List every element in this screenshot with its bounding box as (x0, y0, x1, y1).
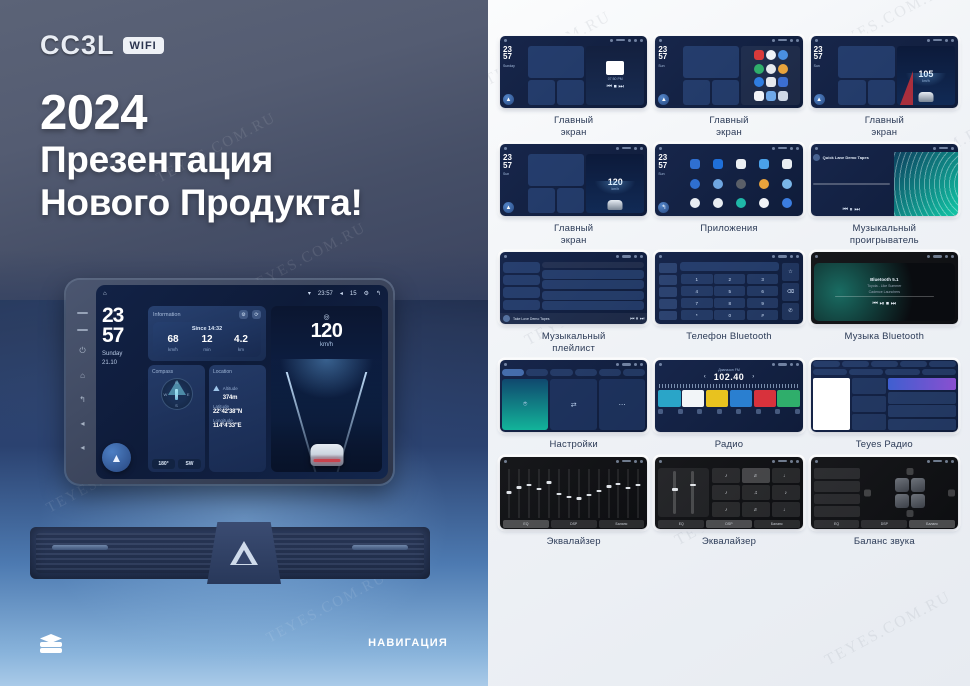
dialer-sidebar[interactable] (658, 262, 678, 321)
dial-key[interactable]: 2 (714, 274, 745, 285)
eq-tab[interactable]: Баланс (599, 520, 645, 528)
grid-cell[interactable]: EQ DSP Баланс Эквалайзер (500, 457, 647, 548)
thumb-status-bar (811, 252, 958, 260)
track-title: Take Love Demo Tapes (513, 317, 550, 321)
head-unit-screen[interactable]: ⌂ ▾ 23:57 ◂ 15 ⚙ ↰ 23 57 Sunday (96, 285, 388, 479)
screenshot-sound-balance[interactable]: EQ DSP Баланс (811, 457, 958, 529)
preset-button[interactable]: ♬ (742, 502, 770, 517)
eq-tab[interactable]: DSP (861, 520, 907, 528)
compass-readout: 180° SW (152, 459, 201, 469)
grid-cell[interactable]: 1 2 3 4 5 6 7 8 9 * 0 # (655, 252, 802, 354)
preset-button[interactable]: ♩ (772, 502, 800, 517)
arrow-left-icon[interactable] (864, 489, 871, 496)
gear-icon[interactable]: ⚙ (364, 290, 369, 297)
caption-line2: экран (865, 127, 904, 139)
caption-line1: Главный (554, 115, 593, 127)
eq-tab[interactable]: Баланс (909, 520, 955, 528)
thumbnail-caption: Главный экран (554, 115, 593, 138)
screenshot-apps[interactable]: 23 57 Sun ↰ (655, 144, 802, 216)
preset-button[interactable]: ♪ (712, 468, 740, 483)
navigation-orb-button[interactable]: ▲ (102, 443, 131, 472)
thumb-widgets (528, 154, 585, 213)
caption-line1: Настройки (549, 439, 597, 451)
screenshot-radio[interactable]: Диапазон FM ‹ 102.40 › (655, 360, 802, 432)
eq-tab[interactable]: DSP (551, 520, 597, 528)
headline-year: 2024 (40, 88, 363, 139)
compass-widget[interactable]: Compass N E S W 180° (148, 365, 205, 472)
status-right-group: ▾ 23:57 ◂ 15 ⚙ ↰ (308, 290, 381, 297)
thumb-widgets (838, 46, 895, 105)
bt-music-card: Bluetooth 5.1 Toyota - Like Summer Caden… (814, 263, 955, 321)
widget-row (528, 188, 585, 213)
clock-day: Sun (658, 172, 681, 176)
preset-button[interactable]: ♫ (742, 485, 770, 500)
radio-toolbar[interactable] (655, 407, 802, 416)
trip-stat: 4.2 km (224, 335, 258, 352)
thumb-status-bar (811, 36, 958, 44)
equalizer-sliders[interactable] (500, 465, 647, 520)
arrow-right-icon[interactable] (948, 489, 955, 496)
balance-pad[interactable] (864, 468, 955, 517)
compass-widget (528, 80, 555, 105)
grid-cell[interactable]: ♪ ♬ ♩ ♪ ♫ ♪ ♪ ♬ ♩ EQ DSP Баланс (655, 457, 802, 548)
caption-line1: Главный (709, 115, 748, 127)
clock-minutes: 57 (658, 53, 681, 60)
eq-band (595, 469, 603, 518)
trip-since: Since 14:32 (156, 326, 258, 332)
car-graphic (918, 92, 933, 102)
altitude-label: Altitude (223, 386, 238, 391)
album-art (503, 315, 510, 322)
caption-line1: Главный (865, 115, 904, 127)
headline: 2024 Презентация Нового Продукта! (40, 88, 363, 225)
thumb-body: 23 57 Sun ▲ 120 km/h (500, 152, 647, 216)
screenshot-music-playlist[interactable]: Take Love Demo Tapes ⏮ ⏸ ⏭ (500, 252, 647, 324)
navigation-orb-button[interactable]: ▲ (503, 94, 514, 105)
screenshot-home-speed2[interactable]: 23 57 Sun ▲ 120 km/h (500, 144, 647, 216)
thumbnail-caption: Главный экран (865, 115, 904, 138)
information-card (528, 154, 585, 186)
prev-station-icon[interactable]: ‹ (704, 374, 706, 380)
media-controls[interactable]: ⏮ ⏸ ⏭ (813, 207, 890, 214)
thumb-status-bar (500, 144, 647, 152)
clock-minutes: 57 (102, 326, 143, 346)
location-widget[interactable]: Location ⛰ Altitude 374m Latitude (209, 365, 266, 472)
grid-cell[interactable]: 23 57 Sun ↰ Приложения (655, 144, 802, 246)
thumb-body: 23 57 Sun ↰ (655, 152, 802, 216)
eq-band (525, 469, 533, 518)
longitude-value: 114°4'33"E (213, 423, 262, 429)
preset (658, 390, 680, 407)
compass-south-label: S (175, 403, 178, 408)
caption-line2: проигрыватель (850, 235, 919, 247)
radio-presets[interactable] (655, 390, 802, 407)
settings-tab[interactable] (550, 369, 572, 376)
preset (754, 390, 776, 407)
screen-body: 23 57 Sunday 21.10 ▲ Information ⚙ (96, 302, 388, 479)
eq-tab[interactable]: DSP (706, 520, 752, 528)
clock-minutes: 57 (658, 162, 681, 169)
screenshot-home-media[interactable]: 23 57 Sunday ▲ 07:50 PM ⏮ ⏹ ⏭ (500, 36, 647, 108)
brand-logo: CC3L WIFI (40, 30, 164, 61)
compass-east-label: E (187, 392, 190, 397)
progress-bar[interactable] (813, 183, 890, 185)
eq-tab[interactable]: EQ (814, 520, 860, 528)
screenshot-equalizer-2[interactable]: ♪ ♬ ♩ ♪ ♫ ♪ ♪ ♬ ♩ EQ DSP Баланс (655, 457, 802, 529)
balance-body (811, 465, 958, 520)
player-info: Quick Lane Demo Tapes ⏮ ⏸ ⏭ (811, 152, 892, 216)
thumbnail-caption: Музыкальный плейлист (542, 331, 606, 354)
latitude-row: Latitude 22°42'38"N (213, 404, 262, 415)
track-time: 07:50 PM (608, 77, 623, 81)
caption-line1: Музыка Bluetooth (845, 331, 925, 343)
compass-widget (838, 80, 865, 105)
side-button-mic[interactable] (77, 329, 88, 331)
equalizer-tabs[interactable]: EQ DSP Баланс (500, 520, 647, 529)
screenshot-equalizer[interactable]: EQ DSP Баланс (500, 457, 647, 529)
location-widget (868, 80, 895, 105)
information-actions: ⚙ ⟳ (239, 310, 261, 319)
eq-tab[interactable]: Баланс (754, 520, 800, 528)
side-button-mute[interactable] (77, 312, 88, 314)
thumb-widgets (683, 46, 740, 105)
screenshot-home-apps[interactable]: 23 57 Sun ▲ (655, 36, 802, 108)
equalizer-tabs[interactable]: EQ DSP Баланс (655, 520, 802, 529)
visualizer-graphic (894, 152, 958, 216)
dial-key[interactable]: * (681, 310, 712, 321)
media-controls[interactable]: ⏮ ⏸ ⏭ (630, 316, 644, 322)
wifi-icon[interactable]: ⌾ (502, 379, 548, 430)
clock-minutes: 57 (503, 162, 526, 169)
preset-button[interactable]: ♬ (742, 468, 770, 483)
clock-day: Sun (658, 64, 681, 68)
station-info (852, 378, 886, 430)
latitude-value: 22°42'38"N (213, 409, 262, 415)
thumb-clock: 23 57 Sunday ▲ (503, 46, 526, 105)
screenshot-teyes-radio[interactable] (811, 360, 958, 432)
bt-artist: Cadence Launchers (869, 290, 900, 294)
eq-tab[interactable]: EQ (658, 520, 704, 528)
speed-panel: 105 km/h (897, 46, 955, 105)
grid-cell[interactable]: Take Love Demo Tapes ⏮ ⏸ ⏭ Музыкальный п… (500, 252, 647, 354)
eq2-sliders[interactable] (658, 468, 709, 517)
grid-cell[interactable]: ⌾ ⇄ ⋯ Настройки (500, 360, 647, 451)
dialer-actions[interactable]: ☆ ⌫ ✆ (781, 262, 799, 321)
back-arrow-icon[interactable]: ↰ (78, 395, 87, 404)
back-arrow-icon[interactable]: ↰ (658, 202, 669, 213)
wifi-badge: WIFI (123, 37, 164, 54)
hotspot-icon[interactable]: ⇄ (550, 379, 596, 430)
station-list[interactable] (888, 378, 956, 430)
settings-tab[interactable] (623, 369, 645, 376)
thumb-status-bar (655, 360, 802, 368)
track-title: Quick Lane Demo Tapes (823, 155, 869, 160)
thumbnail-caption: Главный экран (709, 115, 748, 138)
grid-cell[interactable]: Диапазон FM ‹ 102.40 › Радио (655, 360, 802, 451)
trip-stat: 68 km/h (156, 335, 190, 352)
compass-widget (528, 188, 555, 213)
home-icon[interactable]: ⌂ (78, 371, 87, 380)
headline-line2: Нового Продукта! (40, 182, 363, 225)
thumb-body (500, 260, 647, 313)
next-station-icon[interactable]: › (752, 374, 754, 380)
hero-footer: НАВИГАЦИЯ (0, 600, 488, 686)
eq-band (565, 469, 573, 518)
compass-widget (683, 80, 710, 105)
eq-band (575, 469, 583, 518)
trip-value: 12 (190, 335, 224, 345)
clock-day: Sunday (102, 350, 143, 358)
dial-key[interactable]: 3 (747, 274, 778, 285)
thumb-body: 1 2 3 4 5 6 7 8 9 * 0 # (655, 260, 802, 324)
radio-frequency: 102.40 (714, 372, 745, 382)
widget-row (528, 80, 585, 105)
dial-key[interactable]: 4 (681, 286, 712, 297)
information-card (683, 46, 740, 78)
caption-line1: Телефон Bluetooth (686, 331, 772, 343)
hero-panel: TEYES.COM.RU TEYES.COM.RU TEYES.COM.RU T… (0, 0, 488, 686)
clock-date: 21.10 (102, 359, 143, 367)
volume-icon[interactable]: ◂ (340, 290, 343, 297)
backspace-icon[interactable]: ⌫ (782, 283, 798, 301)
altitude-value: 374m (223, 395, 238, 401)
caption-line1: Teyes Радио (856, 439, 913, 451)
thumb-body: Quick Lane Demo Tapes ⏮ ⏸ ⏭ (811, 152, 958, 216)
head-unit-side-buttons[interactable]: ⏻ ⌂ ↰ ◂ ◂ (69, 285, 96, 479)
preset (706, 390, 728, 407)
caption-line2: экран (554, 235, 593, 247)
eq-band (535, 469, 543, 518)
teyes-body (811, 376, 958, 432)
seat-layout (895, 478, 925, 508)
clock-day: Sunday (503, 64, 526, 68)
trip-value: 4.2 (224, 335, 258, 345)
altitude-row: ⛰ Altitude 374m (213, 377, 262, 401)
caption-line2: экран (554, 127, 593, 139)
caption-line1: Приложения (700, 223, 758, 235)
caption-line2: экран (709, 127, 748, 139)
thumb-status-bar (655, 36, 802, 44)
compass-heading: 180° (152, 459, 175, 469)
screenshot-bt-music[interactable]: Bluetooth 5.1 Toyota - Like Summer Caden… (811, 252, 958, 324)
clock-minutes: 57 (503, 53, 526, 60)
trip-stat: 12 min (190, 335, 224, 352)
caption-line1: Баланс звука (854, 536, 915, 548)
trip-unit: km (224, 347, 258, 352)
settings-tab[interactable] (599, 369, 621, 376)
eq2-presets[interactable]: ♪ ♬ ♩ ♪ ♫ ♪ ♪ ♬ ♩ (712, 468, 799, 517)
eq2-slider (673, 471, 676, 514)
preset-button[interactable]: ♪ (712, 485, 740, 500)
media-controls[interactable]: ⏮ ⏯ ⏹ ⏭ (873, 301, 897, 308)
call-icon[interactable]: ✆ (782, 303, 798, 321)
settings-cards[interactable]: ⌾ ⇄ ⋯ (500, 377, 647, 432)
player-bar[interactable]: Take Love Demo Tapes ⏮ ⏸ ⏭ (500, 313, 647, 324)
hazard-triangle-icon (230, 541, 258, 565)
screenshot-bt-phone[interactable]: 1 2 3 4 5 6 7 8 9 * 0 # (655, 252, 802, 324)
trip-unit: km/h (156, 347, 190, 352)
dial-key[interactable]: 1 (681, 274, 712, 285)
power-icon[interactable]: ⏻ (78, 346, 87, 355)
home-icon[interactable]: ⌂ (103, 291, 107, 297)
caption-line1: Эквалайзер (547, 536, 601, 548)
thumbnail-caption: Музыкальный проигрыватель (850, 223, 919, 246)
settings-tab[interactable] (526, 369, 548, 376)
eq-band (605, 469, 613, 518)
volume-down-icon[interactable]: ◂ (78, 443, 87, 452)
caption-line1: Радио (715, 439, 743, 451)
balance-presets[interactable] (814, 468, 861, 517)
volume-up-icon[interactable]: ◂ (78, 419, 87, 428)
eq-band (545, 469, 553, 518)
settings-tab[interactable] (502, 369, 524, 376)
thumb-clock: 23 57 Sun ▲ (658, 46, 681, 105)
information-card[interactable]: Information ⚙ ⟳ Since 14:32 (148, 306, 266, 361)
status-time: 23:57 (318, 291, 333, 297)
widgets-column: Information ⚙ ⟳ Since 14:32 (148, 306, 266, 472)
app-shortcuts[interactable] (741, 46, 799, 105)
app-grid[interactable] (683, 154, 800, 213)
thumb-clock: 23 57 Sun ▲ (814, 46, 837, 105)
clock-day: Sun (503, 172, 526, 176)
more-icon[interactable]: ⋯ (599, 379, 645, 430)
thumb-status-bar (500, 457, 647, 465)
arrow-down-icon[interactable] (906, 510, 913, 517)
eq-tab[interactable]: EQ (503, 520, 549, 528)
screenshot-settings[interactable]: ⌾ ⇄ ⋯ (500, 360, 647, 432)
thumb-body: 23 57 Sunday ▲ 07:50 PM ⏮ ⏹ ⏭ (500, 44, 647, 108)
refresh-icon[interactable]: ⟳ (252, 310, 261, 319)
speed-panel[interactable]: ◎ 120 km/h (271, 306, 382, 472)
dial-key[interactable]: 8 (714, 298, 745, 309)
teyes-subtabs[interactable] (811, 368, 958, 376)
album-art (813, 378, 850, 430)
longitude-row: Longitude 114°4'33"E (213, 418, 262, 429)
grid-cell[interactable]: 23 57 Sun ▲ 105 km/h (811, 36, 958, 138)
settings-tabs[interactable] (500, 368, 647, 377)
preset-button[interactable]: ♪ (712, 502, 740, 517)
tuner-row[interactable]: ‹ 102.40 › (655, 372, 802, 382)
trip-row: 68 km/h 12 min 4.2 km (156, 335, 258, 352)
progress-bar[interactable] (835, 296, 934, 298)
grid-cell[interactable]: Bluetooth 5.1 Toyota - Like Summer Caden… (811, 252, 958, 354)
eq2-body: ♪ ♬ ♩ ♪ ♫ ♪ ♪ ♬ ♩ (655, 465, 802, 520)
headline-line1: Презентация (40, 139, 363, 182)
caption-line1: Главный (554, 223, 593, 235)
preset-button[interactable]: ♩ (772, 468, 800, 483)
eq-band (555, 469, 563, 518)
caption-line1: Музыкальный (850, 223, 919, 235)
thumb-status-bar (500, 36, 647, 44)
thumbnail-caption: Эквалайзер (702, 536, 756, 548)
preset-button[interactable]: ♪ (772, 485, 800, 500)
arrow-up-icon[interactable] (906, 468, 913, 475)
grid-cell[interactable]: 23 57 Sun ▲ (655, 36, 802, 138)
compass-north-label: N (175, 380, 178, 385)
location-widget (557, 188, 584, 213)
grid-cell[interactable]: 23 57 Sun ▲ 120 km/h (500, 144, 647, 246)
thumb-widgets (528, 46, 585, 105)
thumb-clock: 23 57 Sun ▲ (503, 154, 526, 213)
car-graphic (608, 200, 623, 210)
speed-value: 120 (311, 321, 343, 342)
dial-key[interactable]: 0 (714, 310, 745, 321)
thumbnail-caption: Приложения (700, 223, 758, 235)
thumbnail-caption: Эквалайзер (547, 536, 601, 548)
grid-cell[interactable]: Teyes Радио (811, 360, 958, 451)
eq-band (614, 469, 622, 518)
thumb-status-bar (655, 144, 802, 152)
grid-cell[interactable]: 23 57 Sunday ▲ 07:50 PM ⏮ ⏹ ⏭ (500, 36, 647, 138)
location-widget (712, 80, 739, 105)
number-input[interactable] (680, 262, 779, 271)
eq-band (624, 469, 632, 518)
settings-tab[interactable] (575, 369, 597, 376)
wifi-icon[interactable]: ▾ (308, 290, 311, 297)
speed-unit: km/h (320, 342, 333, 348)
hazard-light-button[interactable] (207, 522, 281, 584)
balance-tabs[interactable]: EQ DSP Баланс (811, 520, 958, 529)
screenshot-home-speed[interactable]: 23 57 Sun ▲ 105 km/h (811, 36, 958, 108)
dial-pad[interactable]: 1 2 3 4 5 6 7 8 9 * 0 # (680, 273, 779, 322)
watermark: TEYES.COM.RU (822, 588, 954, 670)
bt-track: Toyota - Like Summer (867, 284, 901, 288)
thumbnail-caption: Музыка Bluetooth (845, 331, 925, 343)
thumbnail-caption: Настройки (549, 439, 597, 451)
dial-key[interactable]: 6 (747, 286, 778, 297)
mountain-icon: ⛰ (213, 384, 220, 394)
altitude-block: Altitude 374m (223, 377, 238, 401)
teyes-tabs[interactable] (811, 360, 958, 368)
back-arrow-icon[interactable]: ↰ (376, 290, 381, 297)
media-controls[interactable]: ⏮ ⏹ ⏭ (607, 84, 624, 91)
information-card (838, 46, 895, 78)
gear-icon[interactable]: ⚙ (239, 310, 248, 319)
dial-key[interactable]: # (747, 310, 778, 321)
clock-minutes: 57 (814, 53, 837, 60)
frequency-scale[interactable] (659, 384, 798, 388)
grid-cell[interactable]: EQ DSP Баланс Баланс звука (811, 457, 958, 548)
navigation-orb-button[interactable]: ▲ (658, 94, 669, 105)
preset (682, 390, 704, 407)
screenshot-music-player[interactable]: Quick Lane Demo Tapes ⏮ ⏸ ⏭ (811, 144, 958, 216)
trip-value: 68 (156, 335, 190, 345)
grid-cell[interactable]: Quick Lane Demo Tapes ⏮ ⏸ ⏭ Музыкальный … (811, 144, 958, 246)
thumb-status-bar (500, 360, 647, 368)
thumbnail-caption: Главный экран (554, 223, 593, 246)
eq2-slider (691, 471, 694, 514)
thumbnail-caption: Баланс звука (854, 536, 915, 548)
status-bar: ⌂ ▾ 23:57 ◂ 15 ⚙ ↰ (96, 285, 388, 302)
dial-key[interactable]: 7 (681, 298, 712, 309)
widget-row (683, 80, 740, 105)
dial-key[interactable]: 5 (714, 286, 745, 297)
car-graphic (310, 444, 343, 466)
playlist-sidebar[interactable] (503, 262, 540, 310)
preset (730, 390, 752, 407)
star-icon[interactable]: ☆ (782, 263, 798, 281)
app-grid[interactable] (752, 48, 790, 103)
clock-column: 23 57 Sunday 21.10 ▲ (102, 306, 143, 472)
location-widget (557, 80, 584, 105)
track-list[interactable] (542, 262, 645, 310)
thumb-clock: 23 57 Sun ↰ (658, 154, 681, 213)
eq-band (585, 469, 593, 518)
information-title: Information (153, 312, 181, 318)
dial-key[interactable]: 9 (747, 298, 778, 309)
navigation-orb-button[interactable]: ▲ (814, 94, 825, 105)
navigation-orb-button[interactable]: ▲ (503, 202, 514, 213)
